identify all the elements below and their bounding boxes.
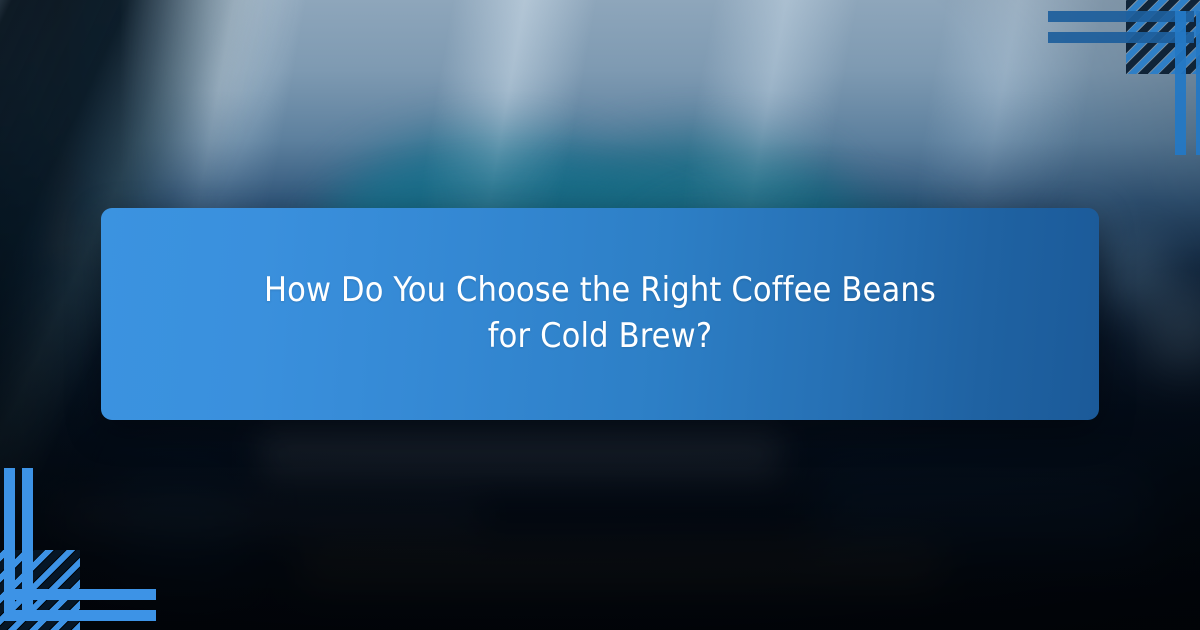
page-title: How Do You Choose the Right Coffee Beans… <box>206 268 994 359</box>
title-card: How Do You Choose the Right Coffee Beans… <box>101 208 1099 420</box>
social-card-canvas: How Do You Choose the Right Coffee Beans… <box>0 0 1200 630</box>
corner-bar-top-right-v2 <box>1196 11 1200 155</box>
corner-bar-top-right-h1 <box>1048 11 1194 22</box>
corner-bar-top-right-h2 <box>1048 32 1194 43</box>
corner-bar-top-right-v1 <box>1175 11 1186 155</box>
corner-bar-bottom-left-h1 <box>4 589 156 600</box>
corner-bar-bottom-left-h2 <box>4 610 156 621</box>
